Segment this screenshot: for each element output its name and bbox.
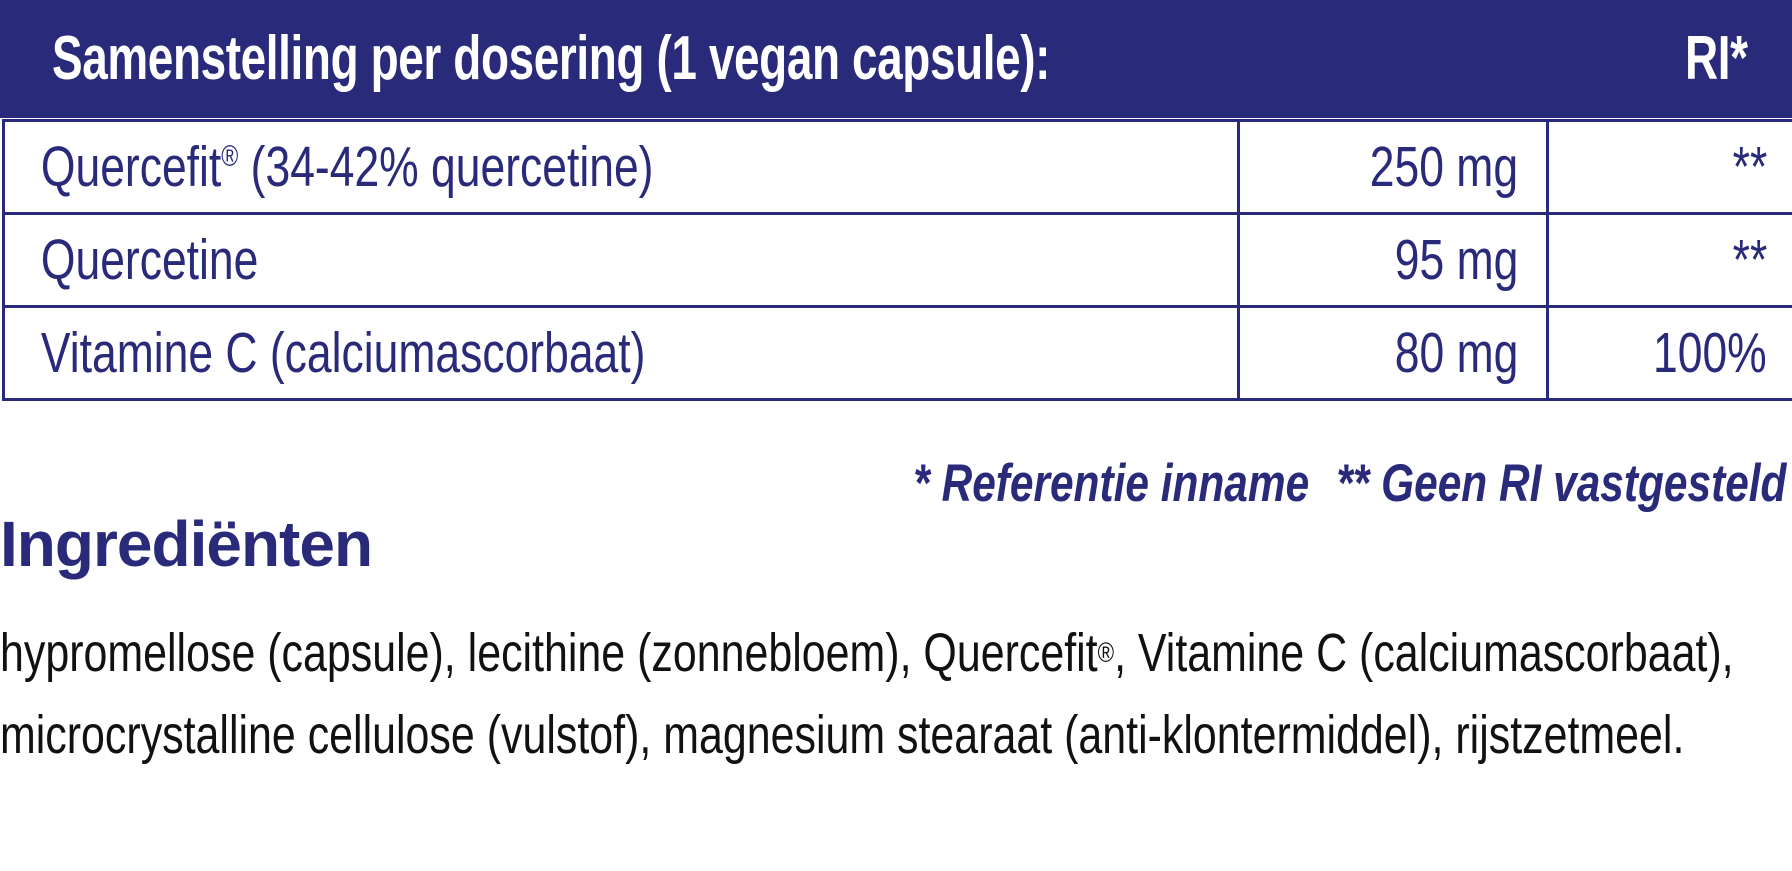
nutrition-table-header: Samenstelling per dosering (1 vegan caps… <box>0 0 1792 118</box>
ingredient-name-suffix: (34-42% quercetine) <box>238 135 653 199</box>
table-cell-ingredient-name: Quercetine <box>4 214 1239 307</box>
table-row: Quercefit® (34-42% quercetine) 250 mg ** <box>4 121 1792 214</box>
amount-text: 250 mg <box>1370 139 1546 196</box>
footnote-reference-intake: * Referentie inname <box>913 454 1309 513</box>
table-cell-amount: 95 mg <box>1239 214 1548 307</box>
ri-text: ** <box>1732 139 1792 196</box>
ingredients-body: hypromellose (capsule), lecithine (zonne… <box>0 612 1792 776</box>
ingredients-heading: Ingrediënten <box>0 512 372 576</box>
table-cell-ingredient-name: Quercefit® (34-42% quercetine) <box>4 121 1239 214</box>
table-cell-amount: 80 mg <box>1239 307 1548 400</box>
registered-trademark-icon: ® <box>1098 639 1114 667</box>
table-cell-ri: ** <box>1548 214 1792 307</box>
ingredients-line-2: microcrystalline cellulose (vulstof), ma… <box>0 694 1425 776</box>
ingredients-line-1: hypromellose (capsule), lecithine (zonne… <box>0 612 1425 694</box>
supplement-facts-panel: Samenstelling per dosering (1 vegan caps… <box>0 0 1792 871</box>
table-row: Quercetine 95 mg ** <box>4 214 1792 307</box>
amount-text: 80 mg <box>1394 325 1546 382</box>
ingredient-name-text: Vitamine C (calciumascorbaat) <box>5 325 645 382</box>
amount-text: 95 mg <box>1394 232 1546 289</box>
ingredient-name-text: Quercefit® (34-42% quercetine) <box>5 139 653 196</box>
nutrition-facts-table: Quercefit® (34-42% quercetine) 250 mg **… <box>2 119 1792 401</box>
footnotes-text: * Referentie inname** Geen RI vastgestel… <box>913 457 1786 510</box>
ingredient-name-base: Vitamine C <box>41 321 258 385</box>
footnote-no-ri: ** Geen RI vastgesteld <box>1336 454 1786 513</box>
table-cell-ingredient-name: Vitamine C (calciumascorbaat) <box>4 307 1239 400</box>
ri-text: ** <box>1732 232 1792 289</box>
ingredient-name-text: Quercetine <box>5 232 258 289</box>
page-title: Samenstelling per dosering (1 vegan caps… <box>52 28 1050 90</box>
ingredients-line-1-part-a: hypromellose (capsule), lecithine (zonne… <box>0 626 1098 680</box>
registered-trademark-icon: ® <box>221 140 238 173</box>
ingredient-name-suffix: (calciumascorbaat) <box>258 321 646 385</box>
table-cell-ri: 100% <box>1548 307 1792 400</box>
ingredient-name-base: Quercefit <box>41 135 221 199</box>
ri-text: 100% <box>1653 325 1792 382</box>
table-row: Vitamine C (calciumascorbaat) 80 mg 100% <box>4 307 1792 400</box>
header-ri-label: RI* <box>1685 28 1748 90</box>
ingredient-name-base: Quercetine <box>41 228 258 292</box>
ingredients-line-1-part-b: , Vitamine C (calciumascorbaat), <box>1114 626 1734 680</box>
table-cell-ri: ** <box>1548 121 1792 214</box>
table-cell-amount: 250 mg <box>1239 121 1548 214</box>
